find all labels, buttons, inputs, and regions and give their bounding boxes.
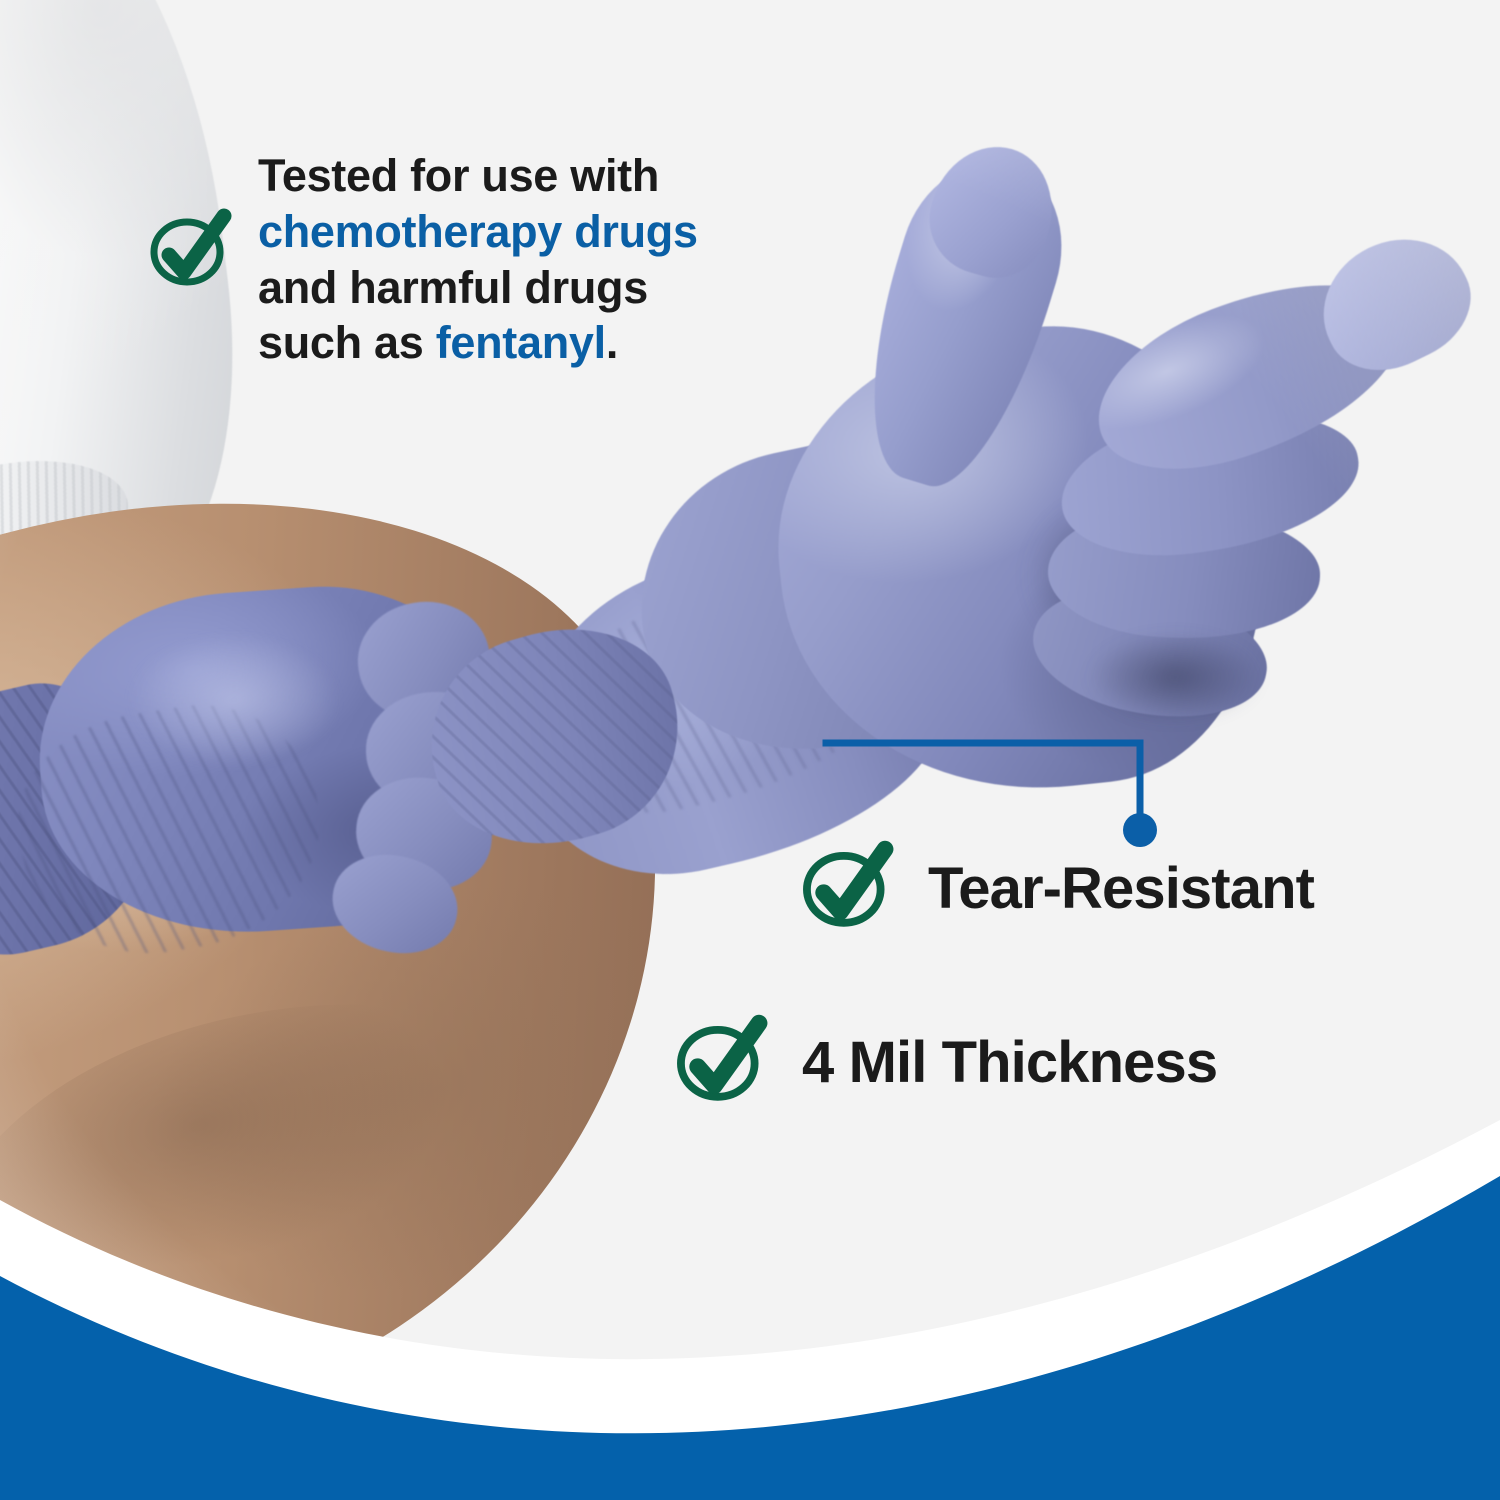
headline-line-3: and harmful drugs [258,260,698,316]
leader-line-path [826,743,1140,826]
bottom-wave-band [0,1080,1500,1500]
feature-tear-resistant: Tear-Resistant [798,838,1314,939]
headline-line-4: such as fentanyl. [258,315,698,371]
feature-label: 4 Mil Thickness [802,1029,1217,1096]
headline-line-1: Tested for use with [258,148,698,204]
headline-fentanyl: fentanyl [436,317,606,368]
callout-chemotherapy: Tested for use with chemotherapy drugs a… [146,148,698,371]
gloved-gripping-fist [0,560,660,1000]
headline-line-2: chemotherapy drugs [258,204,698,260]
headline-period: . [606,317,618,368]
leader-line-with-dot [820,718,1200,848]
check-circle-icon [798,838,894,939]
feature-thickness: 4 Mil Thickness [672,1012,1217,1113]
fist-highlight [90,620,390,810]
check-circle-icon [672,1012,768,1113]
check-circle-icon [146,206,232,297]
headline-line-4-lead: such as [258,317,436,368]
callout-headline: Tested for use with chemotherapy drugs a… [258,148,698,371]
product-feature-graphic: Tested for use with chemotherapy drugs a… [0,0,1500,1500]
feature-label: Tear-Resistant [928,855,1314,922]
